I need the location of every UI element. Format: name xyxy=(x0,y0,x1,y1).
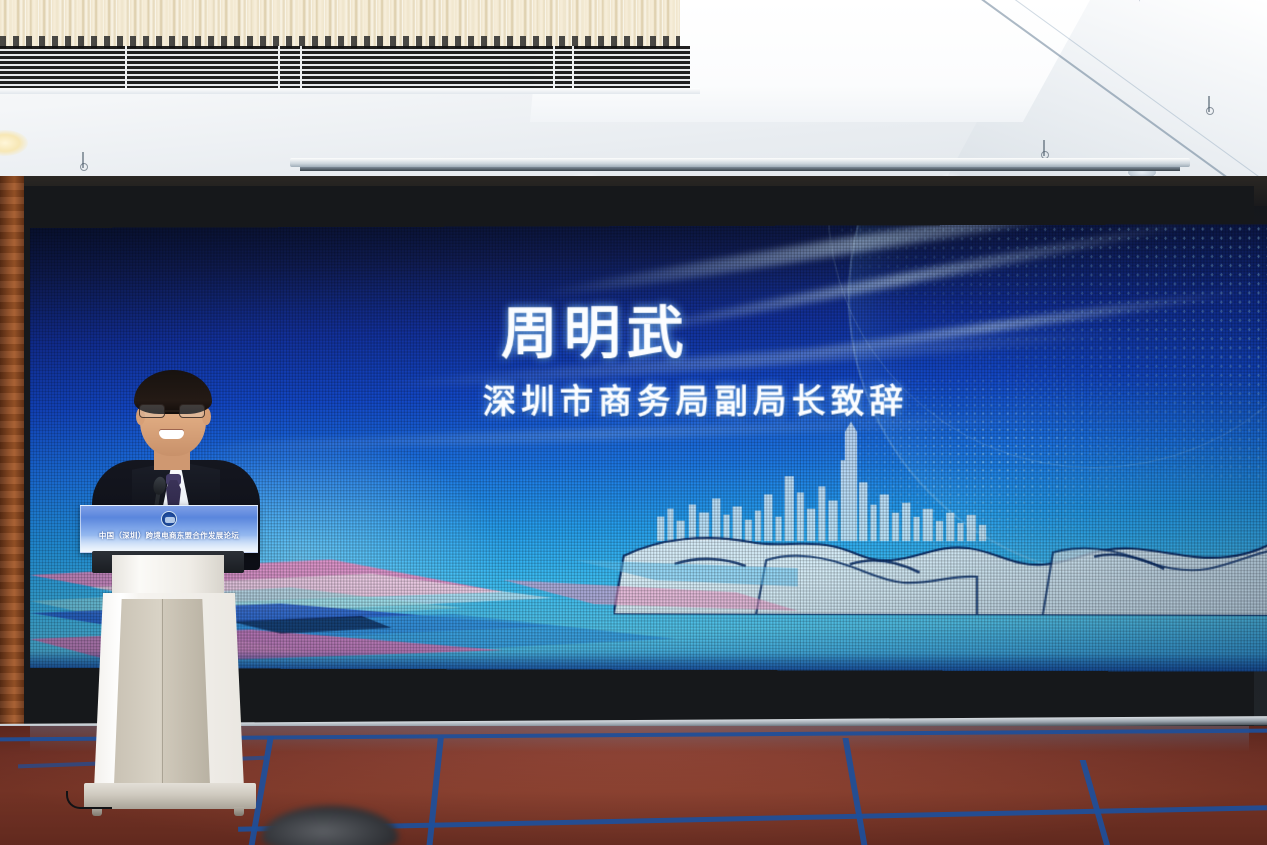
corner-light-glow xyxy=(0,130,28,156)
ceiling-track-rail-shadow xyxy=(300,167,1180,171)
ceiling-hook-icon xyxy=(1043,140,1045,156)
conference-hall-photo: 周明武 深圳市商务局副局长致辞 中国（深圳）跨境电商东盟合作发展论坛 xyxy=(0,0,1267,845)
ceiling-diagonal-trim xyxy=(967,0,1267,180)
ceiling-hook-icon xyxy=(82,152,84,168)
wood-wall-trim xyxy=(0,176,24,736)
podium: 中国（深圳）跨境电商东盟合作发展论坛 xyxy=(78,505,260,835)
ceiling-vent-grille xyxy=(0,46,690,88)
forum-logo-icon xyxy=(161,511,177,527)
screen-text-block: 周明武 深圳市商务局副局长致辞 xyxy=(473,304,1003,423)
mouth xyxy=(159,430,184,439)
ceiling-edge-strip xyxy=(0,88,700,94)
podium-banner-text: 中国（深圳）跨境电商东盟合作发展论坛 xyxy=(81,530,257,541)
podium-neck xyxy=(112,555,224,595)
ceiling-hook-icon xyxy=(1208,96,1210,112)
speaker-name-title: 周明武 xyxy=(473,304,1003,364)
glasses-icon xyxy=(139,404,207,419)
speaker-role-subtitle: 深圳市商务局副局长致辞 xyxy=(473,374,1003,423)
podium-front-panel xyxy=(114,599,210,785)
ceiling-track-rail xyxy=(290,158,1190,167)
podium-foot xyxy=(234,807,244,816)
power-cable xyxy=(66,791,112,809)
podium-banner: 中国（深圳）跨境电商东盟合作发展论坛 xyxy=(80,505,258,553)
